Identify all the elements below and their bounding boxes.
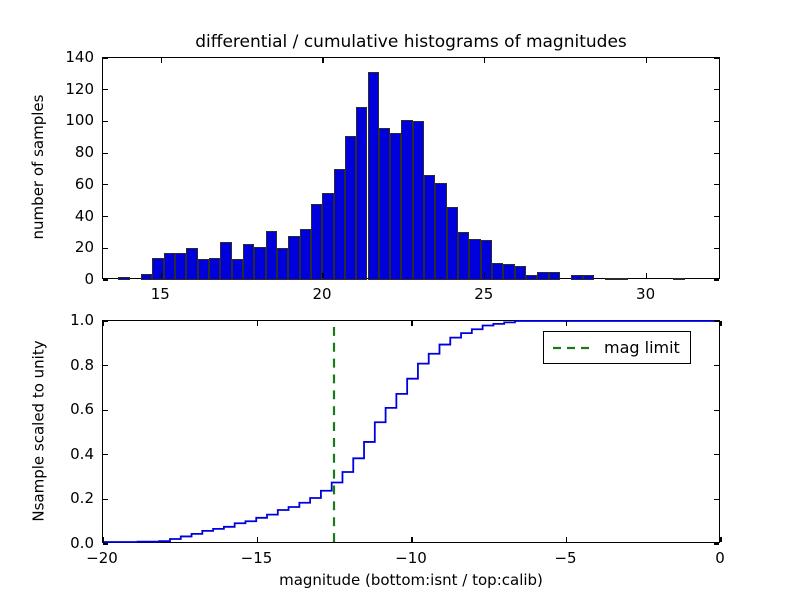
- histogram-bar: [617, 278, 628, 280]
- histogram-bar: [186, 248, 197, 280]
- histogram-bar: [232, 259, 243, 280]
- histogram-bar: [356, 107, 367, 280]
- y-axis-tick: [714, 248, 719, 249]
- y-axis-tick: [103, 121, 108, 122]
- histogram-bar: [537, 272, 548, 280]
- y-axis-ticklabel: 140: [0, 48, 94, 66]
- x-axis-tick: [322, 273, 323, 278]
- cumulative-histogram-axes: mag limit: [102, 320, 720, 543]
- y-axis-tick: [103, 248, 108, 249]
- x-axis-tick: [720, 321, 721, 326]
- histogram-bar: [549, 272, 560, 280]
- y-axis-tick: [103, 57, 108, 58]
- histogram-bar: [141, 274, 152, 280]
- histogram-bar: [368, 72, 379, 280]
- x-axis-tick: [566, 537, 567, 542]
- bottom-axis-xlabel: magnitude (bottom:isnt / top:calib): [102, 571, 720, 589]
- x-axis-tick: [720, 537, 721, 542]
- legend-box[interactable]: mag limit: [543, 331, 691, 364]
- histogram-bar: [469, 239, 480, 280]
- figure-canvas: differential / cumulative histograms of …: [0, 0, 800, 600]
- x-axis-tick: [646, 58, 647, 63]
- y-axis-ticklabel: 0: [0, 270, 94, 288]
- page-title: differential / cumulative histograms of …: [102, 32, 720, 52]
- x-axis-tick: [411, 321, 412, 326]
- x-axis-tick: [322, 58, 323, 63]
- histogram-bar: [413, 121, 424, 280]
- x-axis-tick: [102, 537, 103, 542]
- y-axis-tick: [103, 410, 108, 411]
- histogram-bar: [447, 207, 458, 280]
- histogram-bar: [300, 229, 311, 280]
- y-axis-tick: [714, 57, 719, 58]
- x-axis-tick: [411, 537, 412, 542]
- histogram-bar: [243, 244, 254, 280]
- y-axis-tick: [103, 153, 108, 154]
- y-axis-tick: [714, 499, 719, 500]
- y-axis-ticklabel: 120: [0, 80, 94, 98]
- histogram-bar: [288, 236, 299, 280]
- y-axis-tick: [714, 410, 719, 411]
- y-axis-tick: [103, 89, 108, 90]
- histogram-bar: [673, 278, 684, 280]
- x-axis-ticklabel: −5: [554, 549, 576, 567]
- x-axis-tick: [257, 321, 258, 326]
- y-axis-tick: [714, 184, 719, 185]
- x-axis-tick: [566, 321, 567, 326]
- y-axis-ticklabel: 20: [0, 238, 94, 256]
- histogram-bar: [401, 120, 412, 280]
- y-axis-ticklabel: 40: [0, 207, 94, 225]
- x-axis-ticklabel: −10: [395, 549, 427, 567]
- histogram-bar: [424, 175, 435, 280]
- x-axis-tick: [646, 273, 647, 278]
- x-axis-ticklabel: 0: [715, 549, 725, 567]
- histogram-bar: [164, 253, 175, 280]
- y-axis-tick: [714, 121, 719, 122]
- y-axis-tick: [103, 454, 108, 455]
- x-axis-tick: [161, 58, 162, 63]
- x-axis-tick: [484, 273, 485, 278]
- differential-histogram-axes: [102, 57, 720, 279]
- y-axis-tick: [714, 543, 719, 544]
- x-axis-tick: [161, 273, 162, 278]
- y-axis-tick: [103, 184, 108, 185]
- y-axis-tick: [714, 89, 719, 90]
- histogram-bar: [390, 133, 401, 280]
- histogram-bar: [526, 275, 537, 280]
- x-axis-ticklabel: 25: [474, 285, 493, 303]
- y-axis-tick: [103, 216, 108, 217]
- histogram-bar: [175, 253, 186, 280]
- histogram-bar: [503, 264, 514, 280]
- x-axis-ticklabel: −15: [241, 549, 273, 567]
- mag-limit-legend-label: mag limit: [604, 338, 680, 357]
- x-axis-tick: [102, 321, 103, 326]
- histogram-bar: [435, 183, 446, 280]
- histogram-bar: [209, 258, 220, 280]
- histogram-bar: [311, 204, 322, 280]
- x-axis-ticklabel: 20: [312, 285, 331, 303]
- y-axis-tick: [714, 320, 719, 321]
- y-axis-tick: [103, 499, 108, 500]
- y-axis-ticklabel: 80: [0, 143, 94, 161]
- histogram-bar: [334, 169, 345, 280]
- y-axis-tick: [103, 320, 108, 321]
- histogram-bar: [571, 275, 582, 280]
- y-axis-ticklabel: 100: [0, 111, 94, 129]
- x-axis-tick: [484, 58, 485, 63]
- histogram-bar: [605, 278, 616, 280]
- histogram-bar: [583, 275, 594, 280]
- y-axis-tick: [103, 279, 108, 280]
- histogram-bar: [458, 232, 469, 280]
- histogram-bar: [345, 136, 356, 280]
- y-axis-tick: [103, 365, 108, 366]
- x-axis-ticklabel: 30: [636, 285, 655, 303]
- histogram-bar: [198, 259, 209, 280]
- y-axis-tick: [714, 153, 719, 154]
- top-axis-ylabel: number of samples: [29, 56, 47, 278]
- histogram-bar: [492, 263, 503, 280]
- y-axis-tick: [714, 365, 719, 366]
- histogram-bar: [277, 248, 288, 280]
- mag-limit-legend-swatch: [552, 341, 590, 355]
- y-axis-ticklabel: 60: [0, 175, 94, 193]
- y-axis-tick: [714, 216, 719, 217]
- histogram-bar: [379, 128, 390, 280]
- bottom-axis-ylabel: Nsample scaled to unity: [29, 319, 47, 542]
- histogram-bar: [322, 193, 333, 280]
- histogram-bar: [152, 258, 163, 280]
- histogram-bar: [220, 242, 231, 280]
- histogram-bar: [481, 240, 492, 280]
- x-axis-tick: [257, 537, 258, 542]
- y-axis-tick: [714, 279, 719, 280]
- y-axis-tick: [103, 543, 108, 544]
- histogram-bar: [118, 277, 129, 280]
- x-axis-ticklabel: 15: [151, 285, 170, 303]
- histogram-bar: [515, 266, 526, 280]
- histogram-bar: [266, 231, 277, 280]
- histogram-bar: [254, 247, 265, 280]
- y-axis-tick: [714, 454, 719, 455]
